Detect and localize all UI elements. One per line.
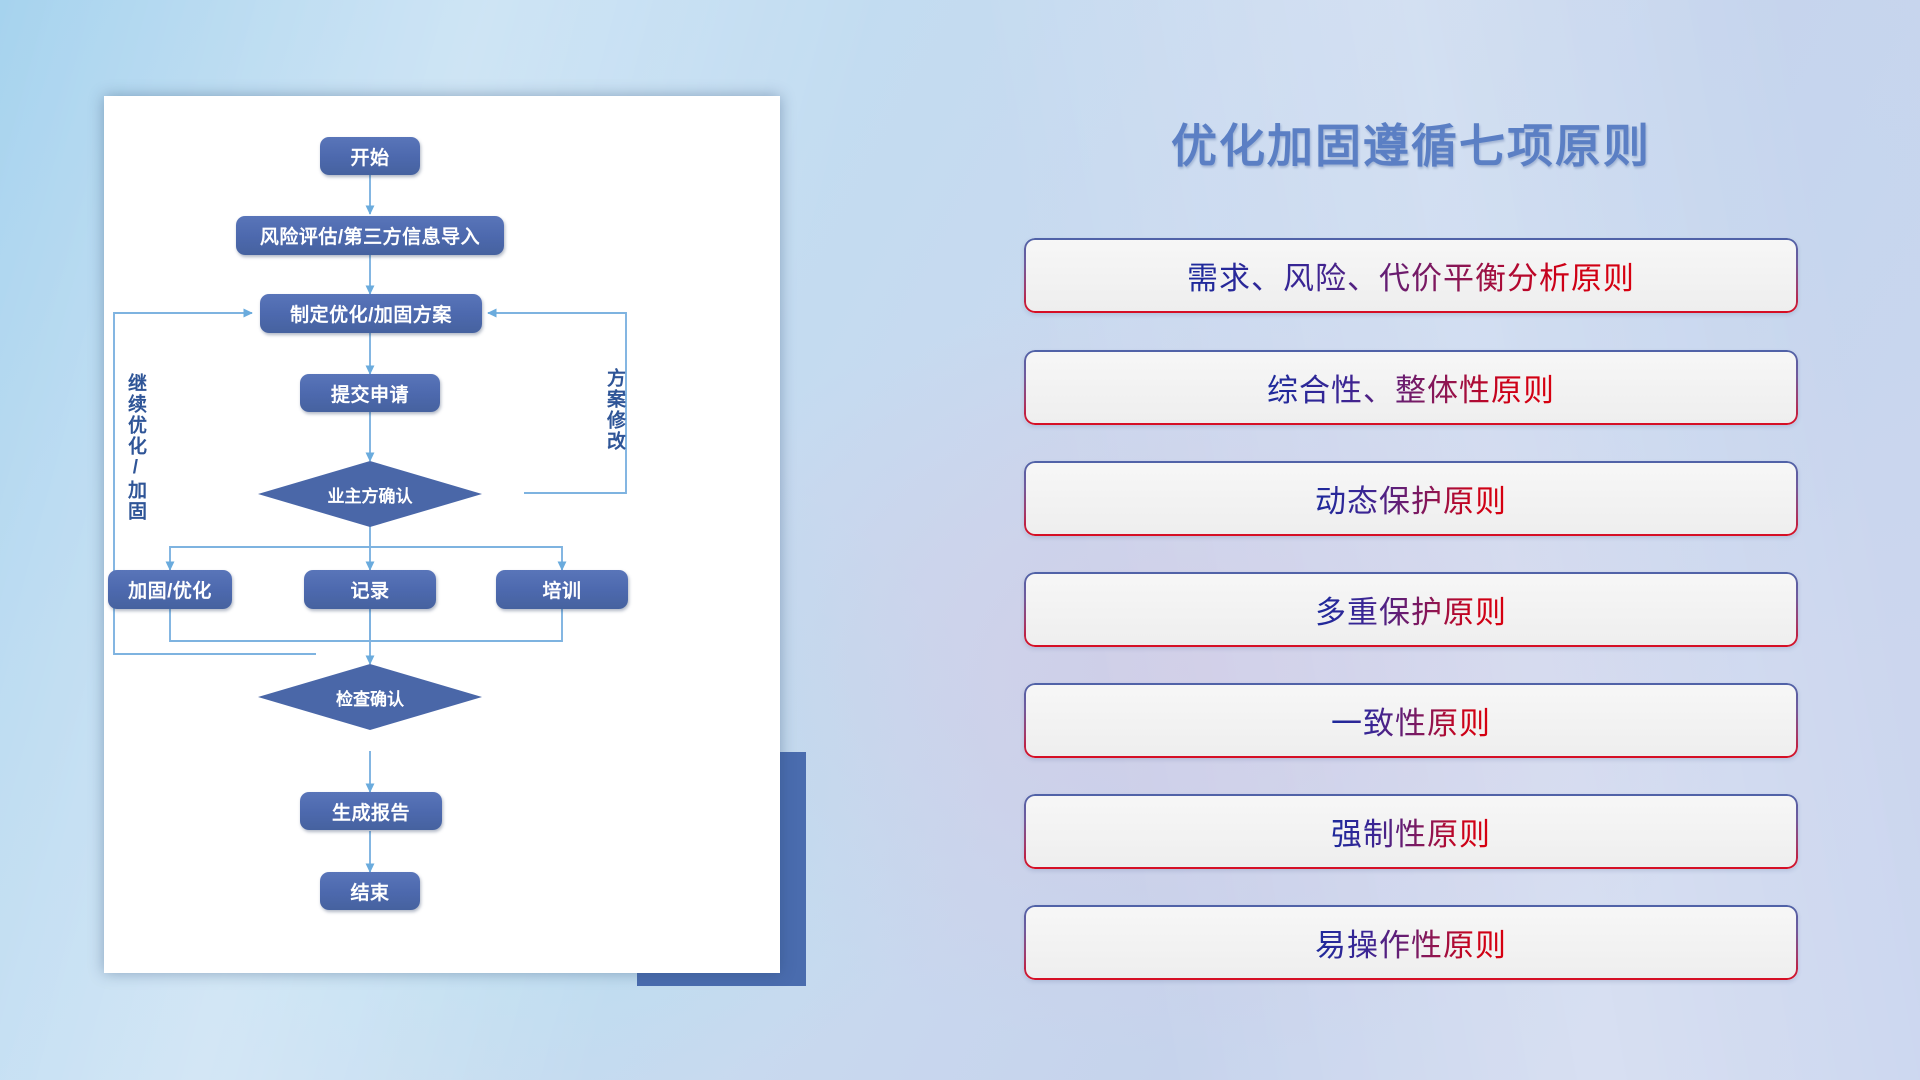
flow-node-reinforce-optimize[interactable]: 加固/优化	[108, 570, 232, 609]
principle-card-label: 综合性、整体性原则	[1267, 365, 1555, 410]
flow-node-label: 生成报告	[332, 798, 410, 825]
principle-card-2[interactable]: 综合性、整体性原则	[1024, 350, 1798, 425]
principle-card-label: 需求、风险、代价平衡分析原则	[1187, 253, 1635, 298]
flow-node-make-plan[interactable]: 制定优化/加固方案	[260, 294, 482, 333]
flow-node-label: 风险评估/第三方信息导入	[260, 222, 480, 249]
flow-node-label: 记录	[350, 576, 389, 603]
flowchart-panel: 开始 风险评估/第三方信息导入 制定优化/加固方案 提交申请 业主方确认 加固/…	[104, 96, 780, 973]
flow-node-end[interactable]: 结束	[320, 872, 420, 910]
flow-node-submit-application[interactable]: 提交申请	[300, 374, 440, 412]
flow-node-training[interactable]: 培训	[496, 570, 628, 609]
flow-edge-label-continue-optimize: 继续优化/加固	[125, 373, 145, 522]
flow-edge-label-plan-revision: 方案修改	[604, 368, 624, 452]
flow-node-record[interactable]: 记录	[304, 570, 436, 609]
principle-card-6[interactable]: 强制性原则	[1024, 794, 1798, 869]
principle-card-5[interactable]: 一致性原则	[1024, 683, 1798, 758]
flow-node-label: 结束	[350, 878, 389, 905]
page-title: 优化加固遵循七项原则	[1024, 110, 1798, 176]
flow-node-label: 培训	[542, 576, 581, 603]
principle-card-7[interactable]: 易操作性原则	[1024, 905, 1798, 980]
principle-card-label: 动态保护原则	[1315, 476, 1507, 521]
principle-card-label: 一致性原则	[1331, 698, 1491, 743]
flow-node-risk-assessment[interactable]: 风险评估/第三方信息导入	[236, 216, 504, 255]
flow-node-label: 提交申请	[331, 380, 409, 407]
principle-card-label: 强制性原则	[1331, 809, 1491, 854]
principle-card-4[interactable]: 多重保护原则	[1024, 572, 1798, 647]
flow-node-label: 制定优化/加固方案	[290, 300, 452, 327]
principle-card-1[interactable]: 需求、风险、代价平衡分析原则	[1024, 238, 1798, 313]
flow-node-generate-report[interactable]: 生成报告	[300, 792, 442, 830]
principle-card-label: 多重保护原则	[1315, 587, 1507, 632]
principle-card-3[interactable]: 动态保护原则	[1024, 461, 1798, 536]
flow-node-label: 加固/优化	[128, 576, 212, 603]
principle-card-label: 易操作性原则	[1315, 920, 1507, 965]
flow-node-label: 开始	[350, 143, 389, 170]
flow-node-start[interactable]: 开始	[320, 137, 420, 175]
flow-node-label: 检查确认	[336, 685, 404, 710]
flow-node-label: 业主方确认	[328, 482, 413, 507]
